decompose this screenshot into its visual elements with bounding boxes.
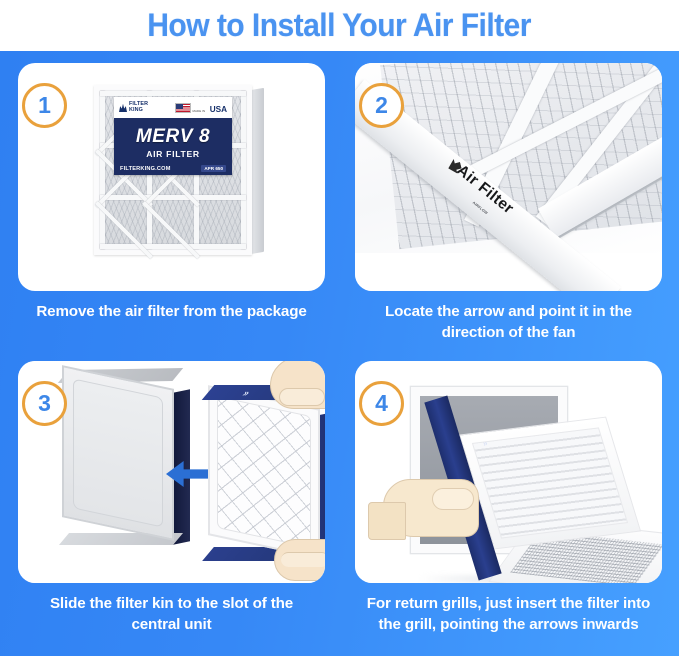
product-label: FILTER KING MADE IN USA [114, 97, 232, 175]
air-filter-product-photo: FILTER KING MADE IN USA [94, 85, 264, 257]
crown-icon [119, 103, 127, 112]
made-in-usa-badge: MADE IN USA [175, 99, 228, 117]
step-2: Air Filter AIRFLOW 2 Locate the arrow an… [355, 63, 662, 353]
apr-badge: APR 650 [201, 165, 226, 172]
page-title: How to Install Your Air Filter [148, 7, 532, 44]
hand-lower [274, 539, 325, 581]
filter-crosshatch-media [217, 396, 311, 548]
header-band: How to Install Your Air Filter [0, 0, 679, 51]
step-number-badge-2: 2 [359, 83, 404, 128]
filter-body [208, 385, 320, 559]
made-in-text: MADE IN [193, 109, 206, 113]
filter-front-face: FILTER KING MADE IN USA [94, 85, 252, 255]
brand-text: FILTER KING [129, 102, 148, 113]
step-4: » 4 For return grills, just insert the f… [355, 361, 662, 651]
step-3-card: » 3 [18, 361, 325, 583]
step-1-card: FILTER KING MADE IN USA [18, 63, 325, 291]
filter-front [208, 385, 320, 559]
hand-inserting-filter [383, 479, 479, 537]
step-2-card: Air Filter AIRFLOW 2 [355, 63, 662, 291]
step-4-card: » 4 [355, 361, 662, 583]
infographic-page: How to Install Your Air Filter [0, 0, 679, 656]
website-text: FILTERKING.COM [120, 166, 171, 172]
unit-panel-inset [73, 378, 163, 527]
usa-flag-icon [175, 103, 191, 113]
step-2-caption: Locate the arrow and point it in the dir… [355, 302, 662, 344]
step-1-caption: Remove the air filter from the package [18, 302, 325, 323]
label-bottom-row: FILTERKING.COM APR 650 [114, 165, 232, 172]
step-number-badge-1: 1 [22, 83, 67, 128]
step-3-caption: Slide the filter kin to the slot of the … [18, 594, 325, 636]
hand-upper [270, 361, 325, 409]
step-number-badge-4: 4 [359, 381, 404, 426]
steps-background: FILTER KING MADE IN USA [0, 51, 679, 656]
label-top-row: FILTER KING MADE IN USA [114, 97, 232, 118]
merv-rating-text: MERV 8 [114, 126, 232, 148]
step-number-badge-3: 3 [22, 381, 67, 426]
step-1: FILTER KING MADE IN USA [18, 63, 325, 353]
step-3: » 3 Slide the filter kin to the slot of … [18, 361, 325, 651]
usa-text: USA [210, 105, 227, 114]
label-subtitle: AIR FILTER [114, 149, 232, 159]
filter-king-logo: FILTER KING [119, 102, 148, 113]
step-4-caption: For return grills, just insert the filte… [355, 594, 662, 636]
filter-depth-edge [250, 88, 264, 254]
grill-louvers [472, 427, 628, 538]
central-unit-panel [62, 365, 174, 541]
